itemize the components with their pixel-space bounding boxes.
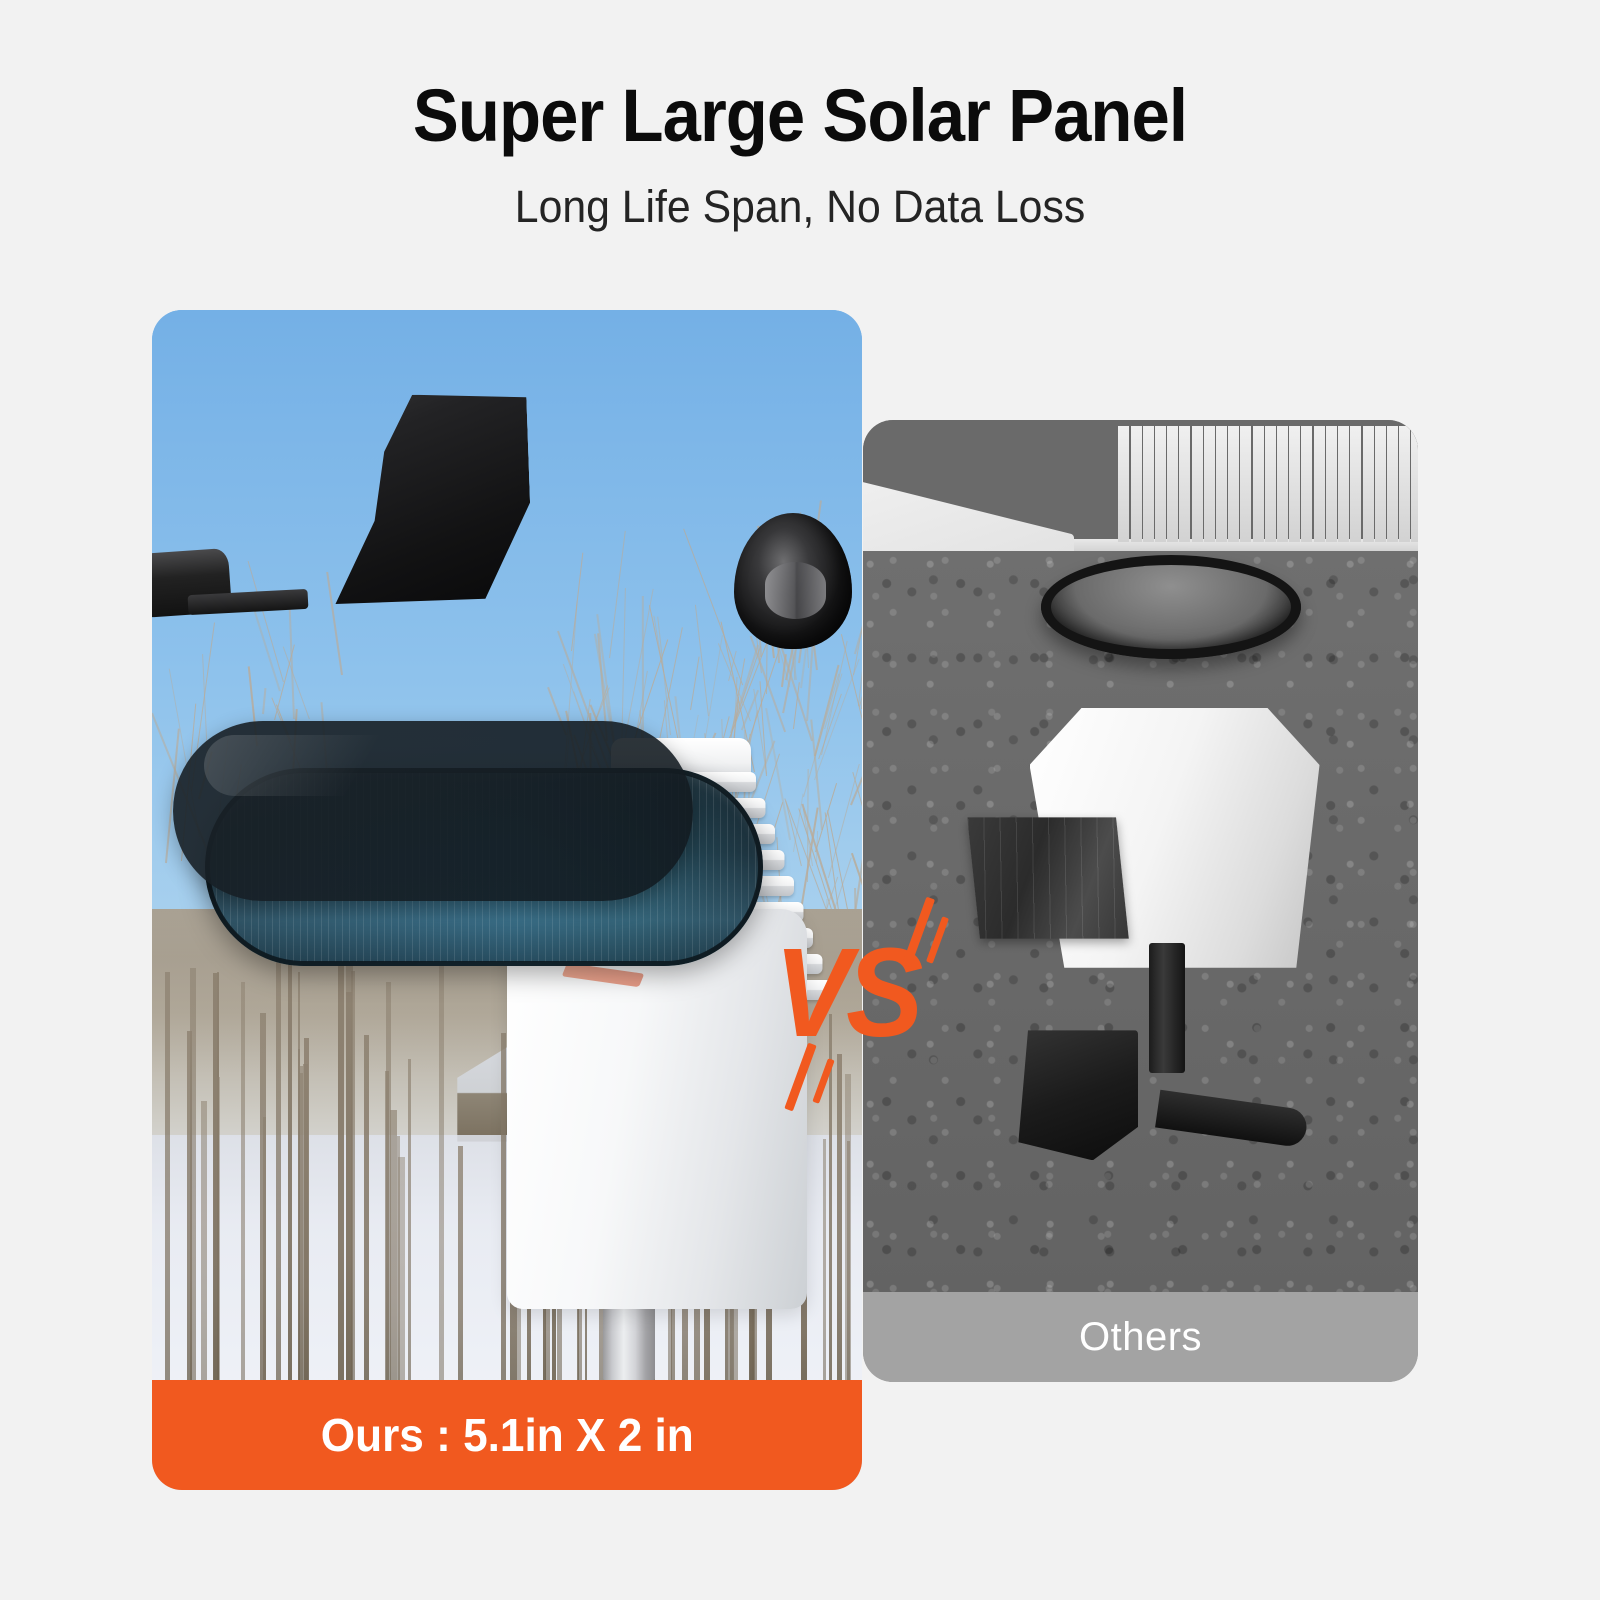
- tree-trunk: [299, 1073, 304, 1380]
- fence-picket: [1179, 426, 1190, 542]
- tree-trunk: [187, 1031, 192, 1380]
- others-product-photo: [863, 420, 1418, 1292]
- fence-picket: [1192, 426, 1203, 542]
- tree-trunk: [390, 1110, 396, 1380]
- tree-branch: [684, 528, 744, 684]
- fence-picket: [1228, 426, 1239, 542]
- tree-branch: [326, 572, 342, 675]
- others-mast: [1149, 943, 1185, 1073]
- tree-trunk: [276, 954, 280, 1380]
- fence-picket: [1118, 426, 1129, 542]
- tree-trunk: [364, 1035, 369, 1380]
- tree-trunk: [165, 972, 170, 1380]
- fence-picket: [1216, 426, 1227, 542]
- fence-picket: [1253, 426, 1264, 542]
- fence-picket: [1350, 426, 1361, 542]
- others-card[interactable]: Others: [863, 420, 1418, 1382]
- ours-label-text: Ours : 5.1in X 2 in: [320, 1408, 693, 1462]
- tree-trunk: [241, 982, 245, 1380]
- tree-trunk: [214, 1077, 219, 1380]
- tree-branch: [690, 657, 700, 711]
- fence-picket: [1167, 426, 1178, 542]
- device-body: [507, 909, 807, 1309]
- tree-branch: [251, 602, 281, 692]
- comparison-section: Ours : 5.1in X 2 in Others: [0, 0, 1600, 1600]
- ours-label-bar: Ours : 5.1in X 2 in: [152, 1380, 862, 1490]
- tree-trunk: [439, 922, 445, 1380]
- ours-card[interactable]: Ours : 5.1in X 2 in: [152, 310, 862, 1490]
- tree-trunk: [845, 1074, 852, 1380]
- tree-trunk: [458, 1146, 462, 1380]
- fence-picket: [1155, 426, 1166, 542]
- tree-trunk: [338, 918, 345, 1380]
- fence-picket: [1277, 426, 1288, 542]
- tree-trunk: [201, 1101, 207, 1380]
- others-label-text: Others: [1079, 1315, 1202, 1360]
- fence-picket: [1240, 426, 1251, 542]
- tree-trunk: [288, 920, 292, 1380]
- fence-picket: [1363, 426, 1374, 542]
- rain-gauge-funnel-rim: [1041, 555, 1301, 659]
- fence-picket: [1143, 426, 1154, 542]
- tree-trunk: [303, 1064, 308, 1380]
- tree-trunk: [408, 1059, 411, 1380]
- fence-picket: [1338, 426, 1349, 542]
- fence-picket: [1399, 426, 1410, 542]
- others-solar-panel: [967, 817, 1129, 938]
- tree-trunk: [501, 1033, 505, 1380]
- fence-picket: [1314, 426, 1325, 542]
- tree-trunk: [823, 1139, 825, 1380]
- solar-panel-glass-overlay: [173, 721, 693, 901]
- fence-picket: [1411, 426, 1418, 542]
- fence-picket: [1265, 426, 1276, 542]
- tree-branch: [633, 639, 668, 742]
- tree-branch: [247, 561, 283, 682]
- tree-branch: [642, 596, 644, 740]
- product-comparison-page: Super Large Solar Panel Long Life Span, …: [0, 0, 1600, 1600]
- fence-picket: [1289, 426, 1300, 542]
- fence-picket: [1387, 426, 1398, 542]
- tree-branch: [262, 688, 266, 714]
- fence-picket: [1375, 426, 1386, 542]
- fence-picket: [1301, 426, 1312, 542]
- tree-trunk: [260, 1013, 266, 1380]
- fence-picket: [1131, 426, 1142, 542]
- tree-trunk: [351, 971, 355, 1380]
- tree-trunk: [397, 1136, 400, 1380]
- others-label-bar: Others: [863, 1292, 1418, 1382]
- fence-picket: [1326, 426, 1337, 542]
- fence-picket: [1204, 426, 1215, 542]
- ours-product-photo: [152, 310, 862, 1380]
